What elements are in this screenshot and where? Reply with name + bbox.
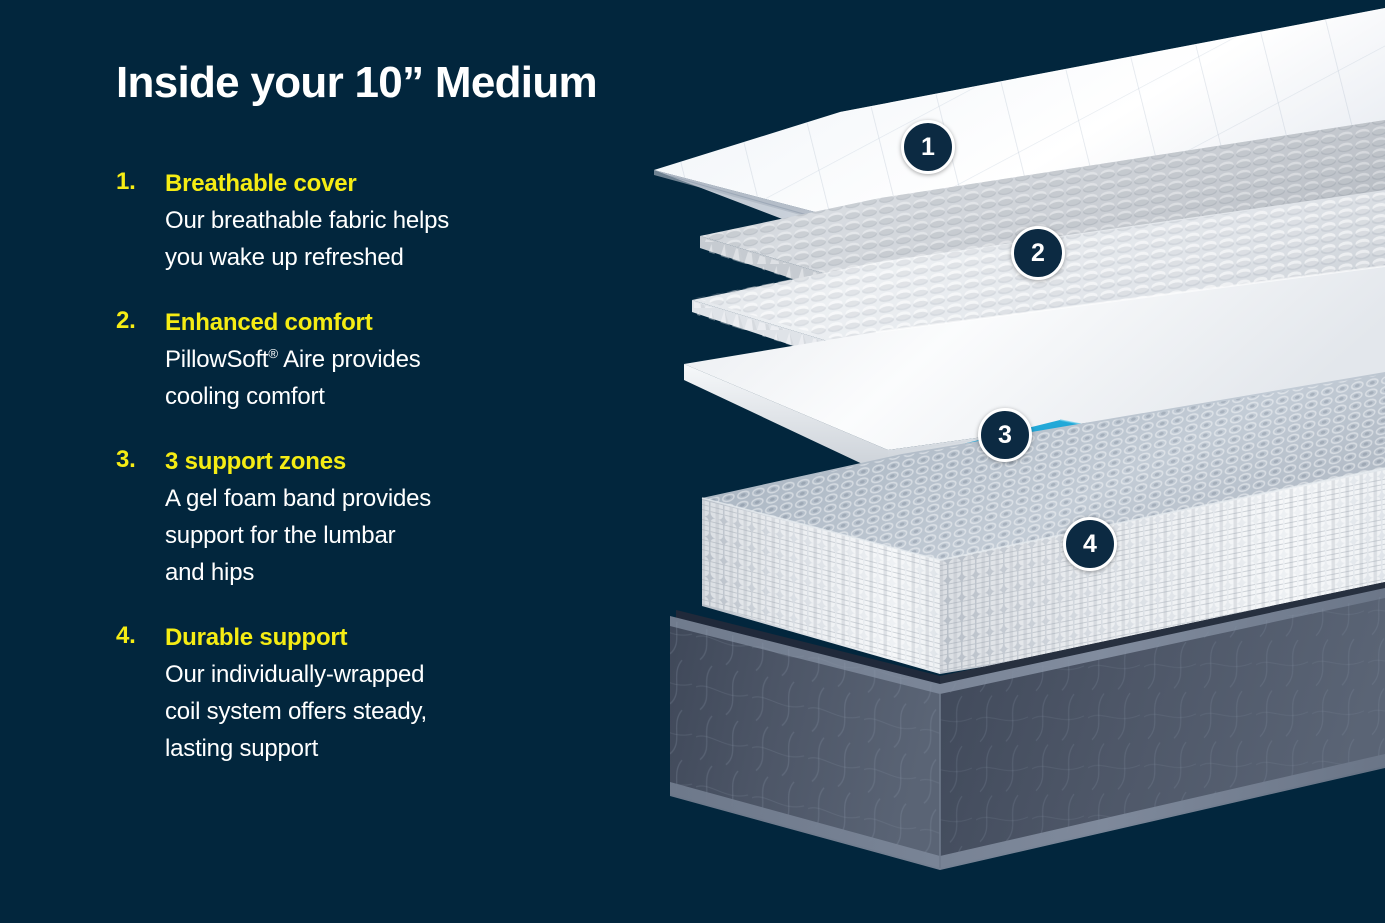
feature-number: 4. — [116, 622, 160, 650]
feature-number: 1. — [116, 168, 160, 196]
content-panel: Inside your 10” Medium 1. Breathable cov… — [0, 0, 700, 923]
mattress-illustration — [640, 0, 1385, 923]
feature-description-line: PillowSoft® Aire provides — [165, 341, 656, 378]
feature-number: 2. — [116, 307, 160, 335]
feature-description-line: A gel foam band provides — [165, 480, 656, 517]
feature-description-line: you wake up refreshed — [165, 239, 656, 276]
feature-description: PillowSoft® Aire provides cooling comfor… — [165, 341, 656, 415]
feature-list: 1. Breathable cover Our breathable fabri… — [116, 168, 656, 767]
feature-item-breathable-cover: 1. Breathable cover Our breathable fabri… — [116, 168, 656, 276]
registered-trademark-symbol: ® — [268, 346, 278, 361]
feature-description-line: support for the lumbar — [165, 517, 656, 554]
callout-badge-3: 3 — [978, 408, 1032, 462]
feature-description-line: cooling comfort — [165, 378, 656, 415]
feature-description-line: coil system offers steady, — [165, 693, 656, 730]
page-title: Inside your 10” Medium — [116, 58, 597, 108]
feature-description-line: and hips — [165, 554, 656, 591]
callout-badge-2: 2 — [1011, 226, 1065, 280]
callout-badge-1: 1 — [901, 120, 955, 174]
feature-description-rest: Aire provides — [278, 346, 421, 373]
feature-description: A gel foam band provides support for the… — [165, 480, 656, 592]
feature-title: Breathable cover — [165, 168, 656, 201]
brand-name: PillowSoft — [165, 346, 268, 373]
feature-title: Durable support — [165, 622, 656, 655]
feature-description-line: lasting support — [165, 730, 656, 767]
feature-number: 3. — [116, 446, 160, 474]
feature-description: Our individually-wrapped coil system off… — [165, 656, 656, 768]
feature-description-line: Our breathable fabric helps — [165, 202, 656, 239]
callout-badge-4: 4 — [1063, 517, 1117, 571]
feature-title: Enhanced comfort — [165, 307, 656, 340]
infographic-canvas: Inside your 10” Medium 1. Breathable cov… — [0, 0, 1385, 923]
feature-description: Our breathable fabric helps you wake up … — [165, 202, 656, 276]
feature-item-durable-support: 4. Durable support Our individually-wrap… — [116, 622, 656, 767]
feature-title: 3 support zones — [165, 446, 656, 479]
feature-description-line: Our individually-wrapped — [165, 656, 656, 693]
feature-item-support-zones: 3. 3 support zones A gel foam band provi… — [116, 446, 656, 591]
feature-item-enhanced-comfort: 2. Enhanced comfort PillowSoft® Aire pro… — [116, 307, 656, 415]
